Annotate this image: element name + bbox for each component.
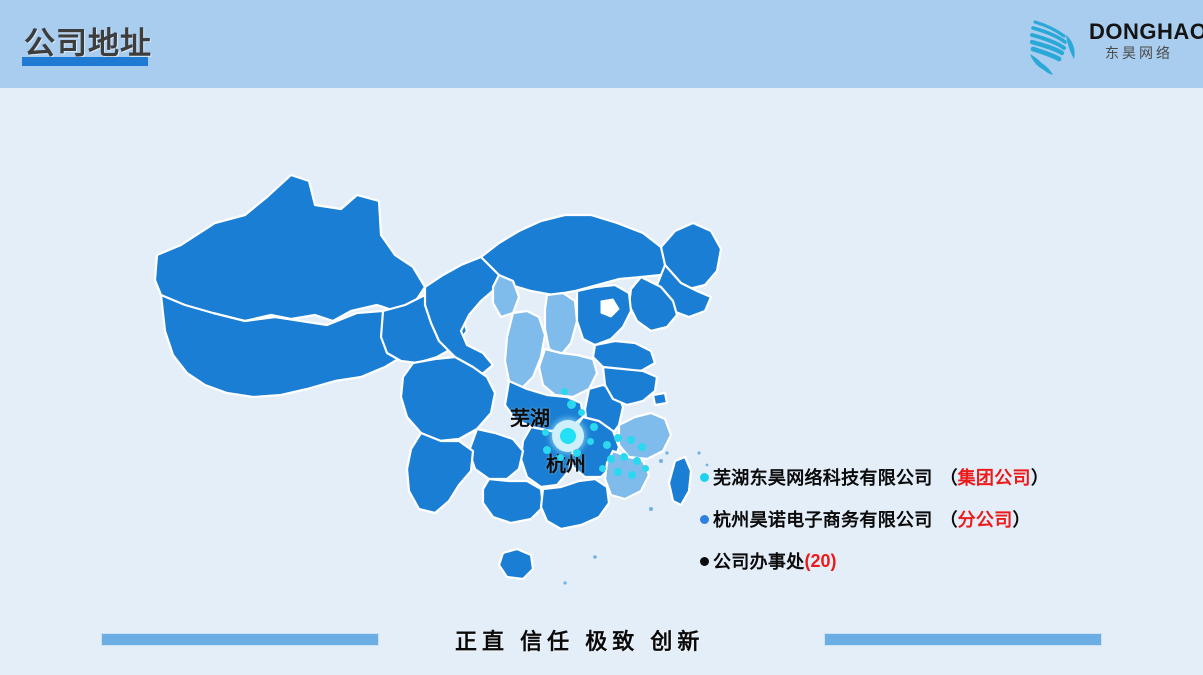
- legend-bullet-icon: [700, 557, 709, 566]
- legend-label: 公司办事处: [713, 548, 805, 574]
- legend-paren-close: ）: [1031, 464, 1049, 490]
- legend-label: 芜湖东昊网络科技有限公司: [713, 464, 933, 490]
- marker-office[interactable]: [603, 441, 611, 449]
- marker-office[interactable]: [614, 468, 622, 476]
- marker-office[interactable]: [557, 454, 564, 461]
- footer-decor-bar-right: [824, 633, 1102, 646]
- legend-tag: (20): [805, 551, 837, 572]
- legend-item-branch-company[interactable]: 杭州昊诺电子商务有限公司 （ 分公司 ）: [700, 504, 1120, 534]
- china-map: 芜湖 杭州: [95, 105, 735, 615]
- marker-office[interactable]: [614, 434, 622, 442]
- legend-bullet-icon: [700, 473, 709, 482]
- legend-label: 杭州昊诺电子商务有限公司: [713, 506, 933, 532]
- slide-canvas: 公司地址: [0, 0, 1203, 675]
- marker-office[interactable]: [599, 465, 606, 472]
- marker-office[interactable]: [573, 449, 581, 457]
- slide-header: 公司地址: [0, 0, 1203, 88]
- legend-item-offices[interactable]: 公司办事处 (20): [700, 546, 1120, 576]
- marker-office[interactable]: [627, 436, 635, 444]
- map-label-wuhu: 芜湖: [510, 402, 550, 431]
- legend-paren-open: （: [940, 464, 958, 490]
- china-map-svg: [95, 105, 735, 615]
- company-logo: DONGHAO 东昊网络: [1011, 6, 1189, 82]
- logo-subtitle: 东昊网络: [1089, 46, 1189, 60]
- marker-office[interactable]: [567, 400, 576, 409]
- marker-office[interactable]: [633, 457, 641, 465]
- legend-paren-open: （: [940, 506, 958, 532]
- logo-name: DONGHAO: [1089, 20, 1189, 43]
- legend: 芜湖东昊网络科技有限公司 （ 集团公司 ） 杭州昊诺电子商务有限公司 （ 分公司…: [700, 462, 1120, 588]
- marker-office[interactable]: [620, 453, 628, 461]
- legend-paren-close: ）: [1013, 506, 1031, 532]
- legend-bullet-icon: [700, 515, 709, 524]
- marker-office[interactable]: [578, 409, 585, 416]
- marker-office[interactable]: [587, 438, 594, 445]
- marker-headquarters-wuhu[interactable]: [552, 420, 584, 452]
- marker-office[interactable]: [628, 471, 636, 479]
- marker-office[interactable]: [607, 455, 615, 463]
- title-underline: [22, 57, 148, 66]
- marker-headquarters-core: [560, 428, 576, 444]
- legend-tag: 分公司: [958, 506, 1013, 532]
- fan-wing-icon: [1019, 8, 1091, 80]
- legend-tag: 集团公司: [958, 464, 1031, 490]
- marker-office[interactable]: [590, 423, 598, 431]
- footer-slogan: 正直 信任 极致 创新: [455, 624, 704, 656]
- marker-office[interactable]: [542, 429, 549, 436]
- logo-text-block: DONGHAO 东昊网络: [1089, 20, 1189, 60]
- marker-office[interactable]: [642, 465, 649, 472]
- footer-decor-bar-left: [101, 633, 379, 646]
- legend-item-group-company[interactable]: 芜湖东昊网络科技有限公司 （ 集团公司 ）: [700, 462, 1120, 492]
- marker-office[interactable]: [543, 446, 551, 454]
- marker-office[interactable]: [561, 388, 568, 395]
- marker-office[interactable]: [638, 443, 646, 451]
